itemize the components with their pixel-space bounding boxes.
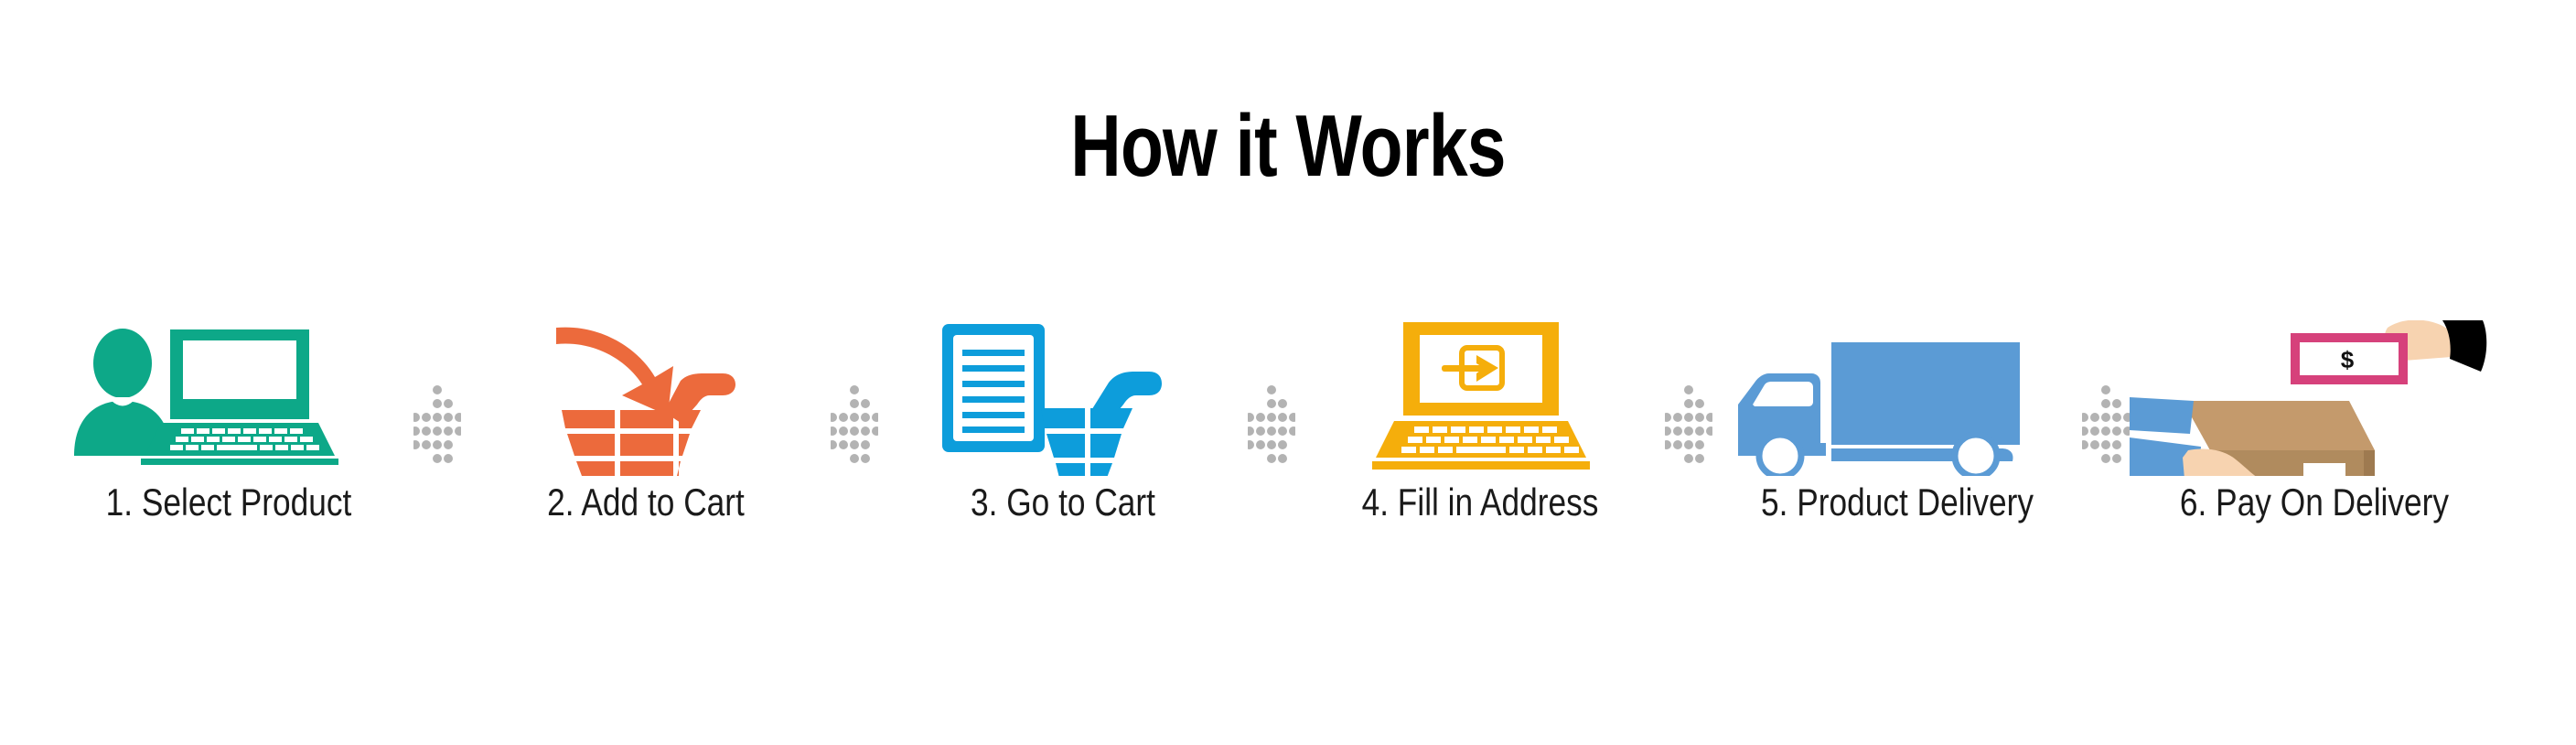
steps-row: 1. Select Product [44, 302, 2541, 604]
dollar-sign-label: $ [2341, 346, 2355, 373]
cart-arrow-icon-area [461, 320, 831, 476]
shipping-label [2303, 463, 2345, 476]
delivery-truck-icon [1712, 320, 2082, 476]
separator-1 [413, 302, 461, 604]
separator-2 [831, 302, 878, 604]
box-payment-hands-icon-area: $ [2130, 320, 2499, 476]
person-laptop-icon [44, 320, 413, 476]
laptop-login-icon-area [1295, 320, 1665, 476]
document-cart-icon-area [878, 320, 1248, 476]
person-laptop-icon-area [44, 320, 413, 476]
dotted-arrow-right-icon [1665, 383, 1712, 467]
dotted-arrow-right-icon [2082, 383, 2130, 467]
step-3-go-to-cart[interactable]: 3. Go to Cart [878, 302, 1248, 604]
document-cart-icon [878, 320, 1248, 476]
infographic-page: How it Works [0, 0, 2576, 745]
step-1-select-product[interactable]: 1. Select Product [44, 302, 413, 604]
step-6-label: 6. Pay On Delivery [2159, 481, 2469, 524]
dotted-arrow-right-icon [1248, 383, 1295, 467]
box-top-flap [2183, 401, 2375, 450]
page-title: How it Works [258, 103, 2319, 190]
step-5-product-delivery[interactable]: 5. Product Delivery [1712, 302, 2082, 604]
cart-arrow-icon [461, 320, 831, 476]
step-6-pay-on-delivery[interactable]: $ [2130, 302, 2499, 604]
step-2-label: 2. Add to Cart [490, 481, 800, 524]
dotted-arrow-right-icon [413, 383, 461, 467]
laptop-login-icon [1295, 320, 1665, 476]
step-4-label: 4. Fill in Address [1325, 481, 1635, 524]
separator-4 [1665, 302, 1712, 604]
step-2-add-to-cart[interactable]: 2. Add to Cart [461, 302, 831, 604]
step-5-label: 5. Product Delivery [1742, 481, 2052, 524]
step-3-label: 3. Go to Cart [907, 481, 1218, 524]
delivery-truck-icon-area [1712, 320, 2082, 476]
box-payment-hands-icon: $ [2130, 320, 2499, 476]
step-1-label: 1. Select Product [73, 481, 383, 524]
separator-3 [1248, 302, 1295, 604]
step-4-fill-in-address[interactable]: 4. Fill in Address [1295, 302, 1665, 604]
sleeve-left-blue-upper [2130, 397, 2194, 434]
dotted-arrow-right-icon [831, 383, 878, 467]
separator-5 [2082, 302, 2130, 604]
